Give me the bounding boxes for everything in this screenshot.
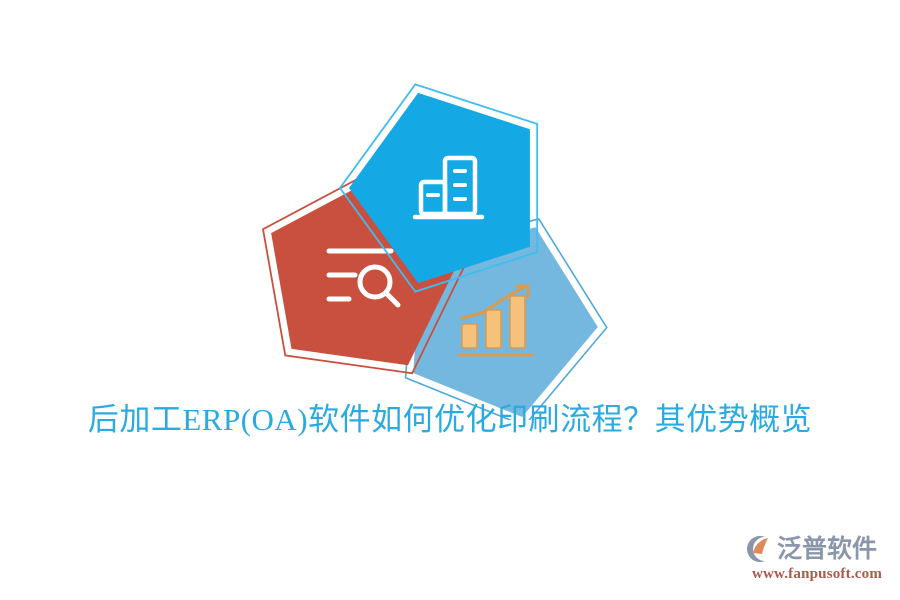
pentagon-cluster-graphic bbox=[0, 0, 900, 420]
page-title: 后加工ERP(OA)软件如何优化印刷流程？其优势概览 bbox=[0, 398, 900, 442]
watermark-brand-text: 泛普软件 bbox=[777, 532, 877, 566]
fanpu-logo-icon bbox=[740, 532, 774, 566]
watermark-url-text: www.fanpusoft.com bbox=[742, 566, 892, 583]
poster-canvas: 后加工ERP(OA)软件如何优化印刷流程？其优势概览 泛普软件 www.fanp… bbox=[0, 0, 900, 600]
watermark: 泛普软件 www.fanpusoft.com bbox=[740, 530, 892, 592]
watermark-logo-row: 泛普软件 bbox=[740, 530, 877, 568]
